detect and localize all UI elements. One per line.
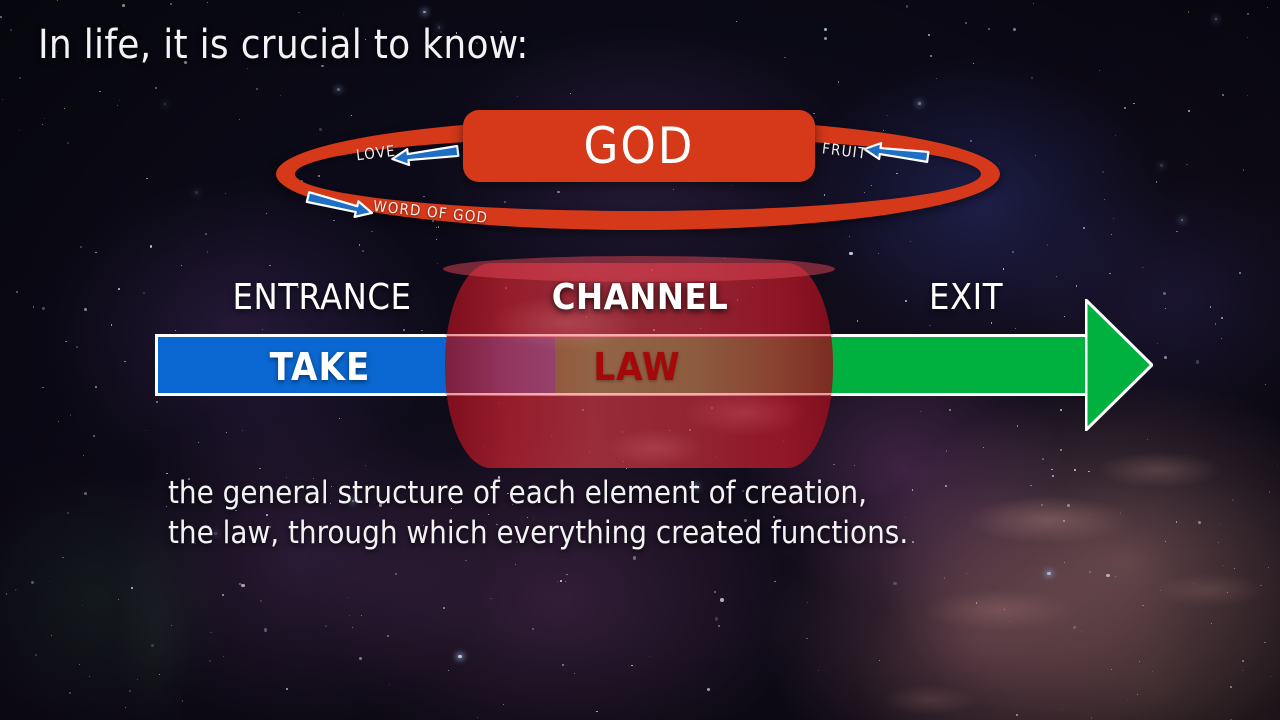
- cylinder-line-bottom: [445, 393, 833, 395]
- channel-word: LAW: [593, 345, 680, 389]
- cylinder-line-top: [445, 334, 833, 336]
- word-of-god-arrow-icon: [305, 192, 375, 218]
- segment-heading-entrance: ENTRANCE: [233, 277, 412, 318]
- entrance-word: TAKE: [270, 345, 371, 389]
- caption-line-1: the general structure of each element of…: [168, 473, 908, 513]
- caption-block: the general structure of each element of…: [168, 473, 908, 553]
- segment-heading-channel: CHANNEL: [552, 277, 728, 318]
- fruit-arrow-icon: [862, 142, 930, 164]
- segment-heading-exit: EXIT: [929, 277, 1003, 318]
- exit-arrowhead-icon: [1085, 299, 1153, 431]
- god-box: GOD: [463, 110, 815, 182]
- love-arrow-icon: [390, 144, 460, 166]
- caption-line-2: the law, through which everything create…: [168, 513, 908, 553]
- god-label: GOD: [463, 110, 815, 182]
- slide-canvas: In life, it is crucial to know:: [0, 0, 1280, 720]
- page-title: In life, it is crucial to know:: [38, 22, 529, 68]
